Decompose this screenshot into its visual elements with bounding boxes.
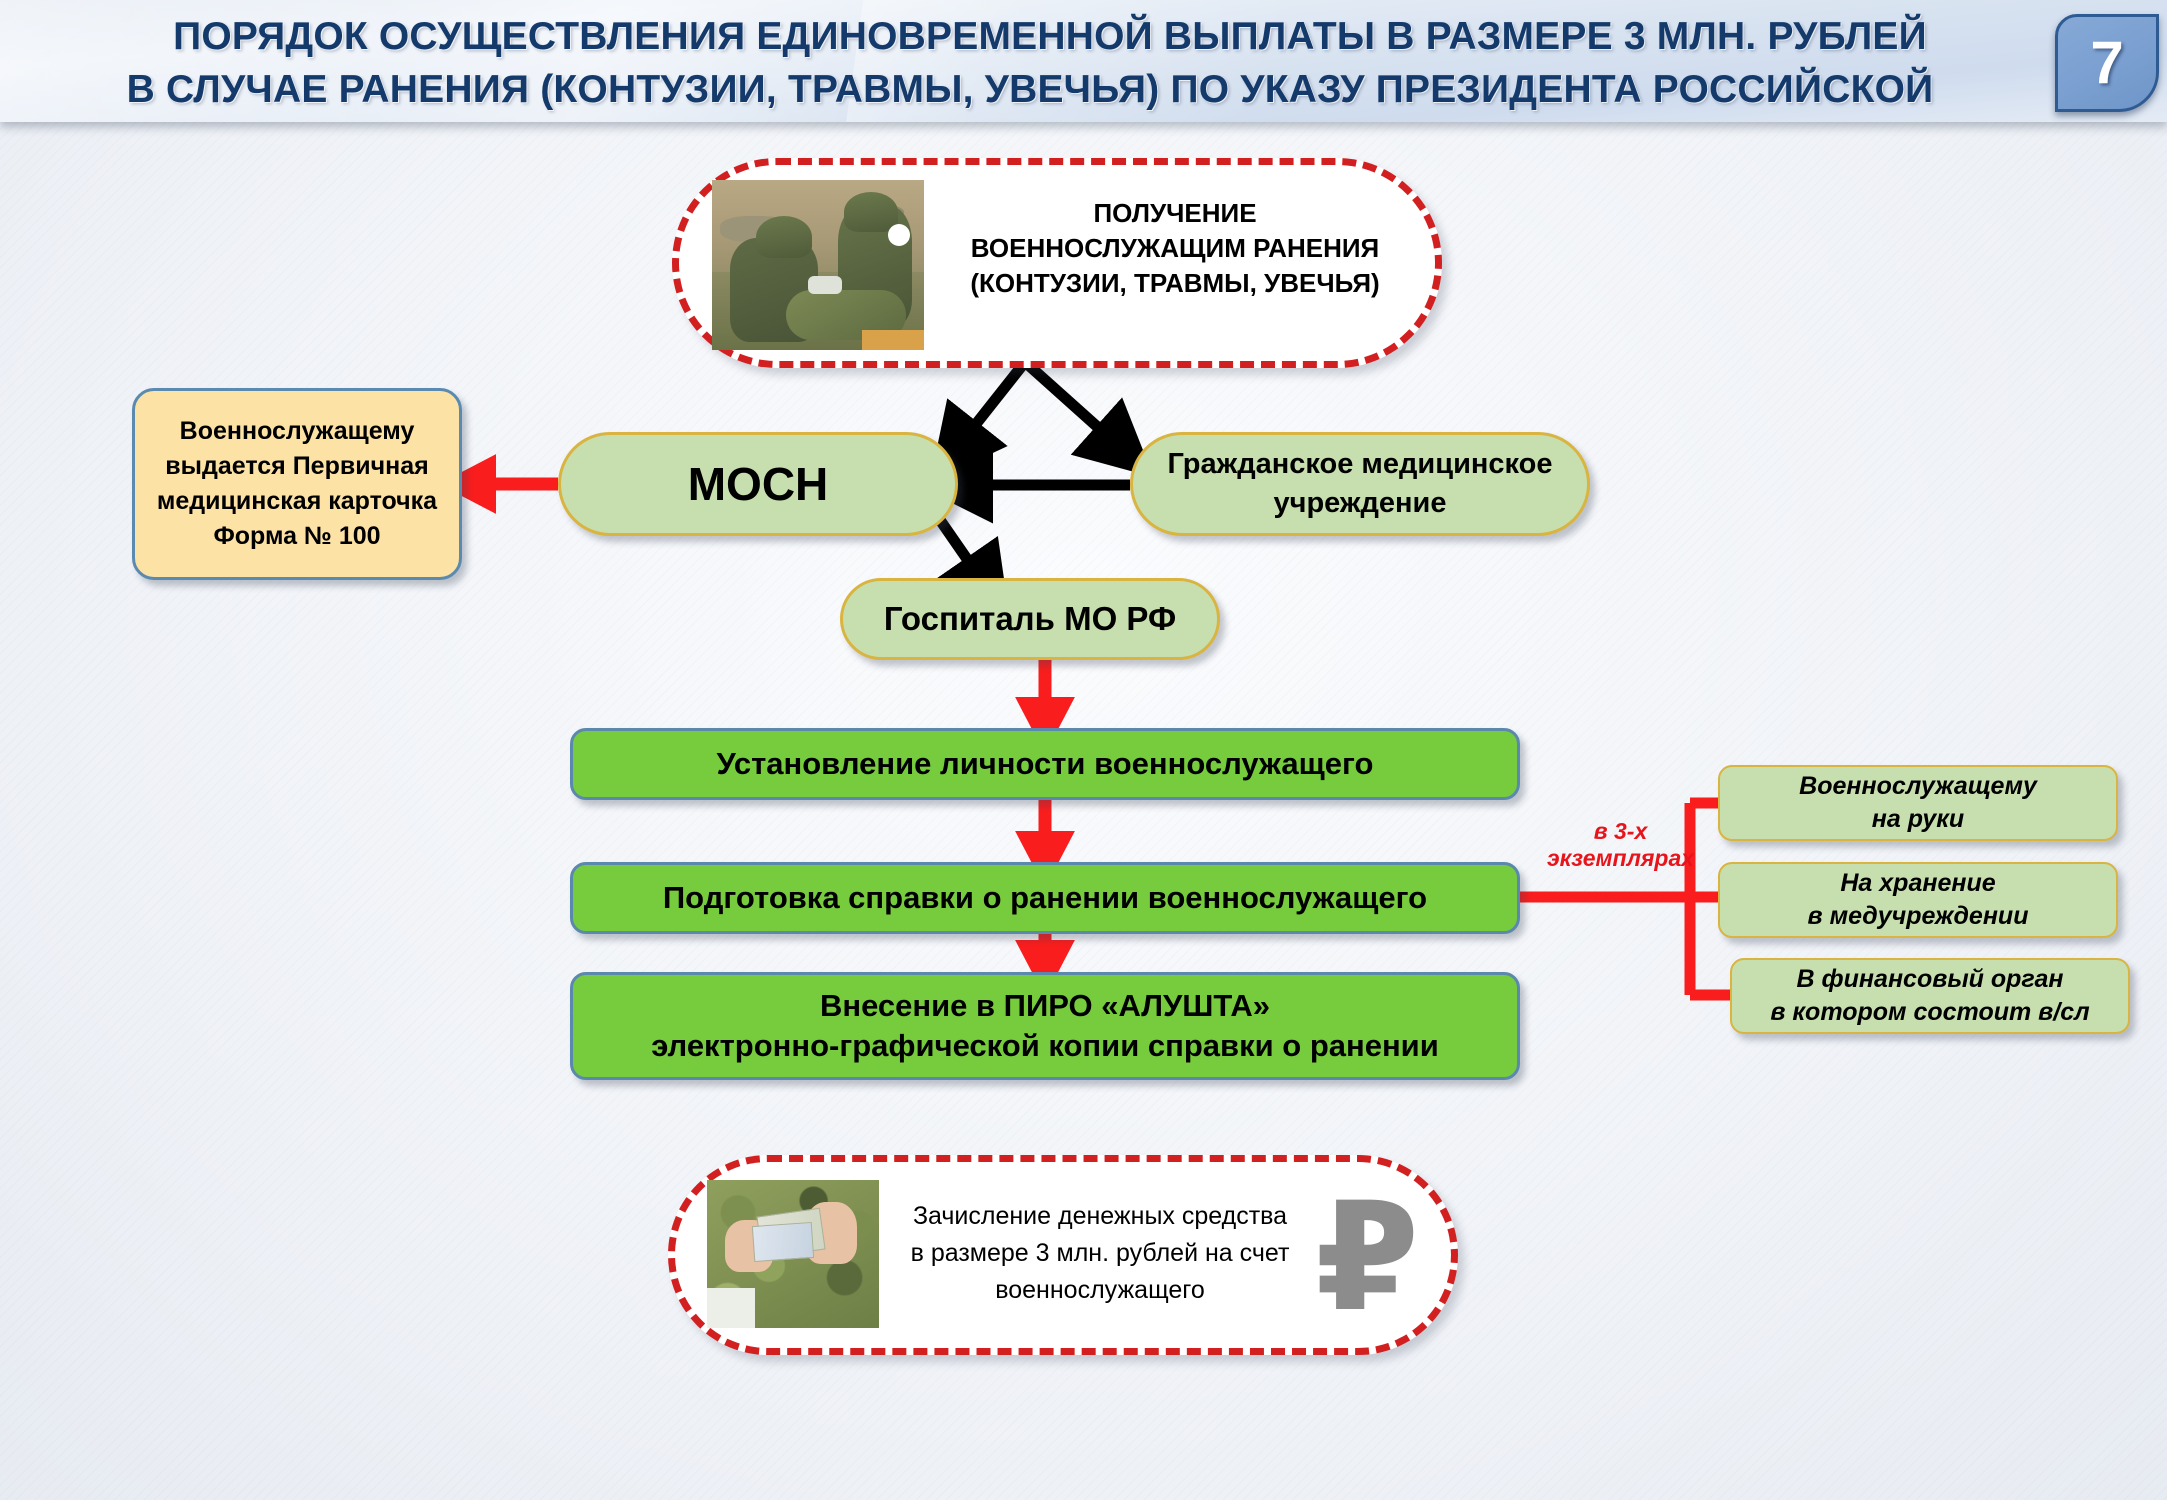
civil-med-line-1: Гражданское медицинское xyxy=(1133,445,1587,484)
copy-destination-serviceman-box: Военнослужащему на руки xyxy=(1718,765,2118,841)
primary-medical-card-box: Военнослужащему выдается Первичная медиц… xyxy=(132,388,462,580)
card-form-line-1: Военнослужащему xyxy=(135,414,459,449)
slide-header: ПОРЯДОК ОСУЩЕСТВЛЕНИЯ ЕДИНОВРЕМЕННОЙ ВЫП… xyxy=(0,0,2167,122)
page-title-line-2: В СЛУЧАЕ РАНЕНИЯ (КОНТУЗИИ, ТРАВМЫ, УВЕЧ… xyxy=(0,63,2060,122)
copy-dest-3-line-2: в котором состоит в/сл xyxy=(1732,996,2128,1029)
copy-dest-1-line-1: Военнослужащему xyxy=(1720,770,2116,803)
injury-label-line-2: ВОЕННОСЛУЖАЩИМ РАНЕНИЯ xyxy=(940,231,1410,266)
mosn-box: МОСН xyxy=(558,432,958,536)
copy-dest-1-line-2: на руки xyxy=(1720,803,2116,836)
identify-serviceman-box: Установление личности военнослужащего xyxy=(570,728,1520,800)
prepare-certificate-box: Подготовка справки о ранении военнослужа… xyxy=(570,862,1520,934)
payment-line-2: в размере 3 млн. рублей на счет xyxy=(890,1235,1310,1272)
three-copies-line-2: экземплярах xyxy=(1538,845,1703,872)
alushta-entry-box: Внесение в ПИРО «АЛУШТА» электронно-граф… xyxy=(570,972,1520,1080)
copy-dest-2-line-2: в медучреждении xyxy=(1720,900,2116,933)
copy-dest-2-line-1: На хранение xyxy=(1720,867,2116,900)
alushta-line-1: Внесение в ПИРО «АЛУШТА» xyxy=(573,986,1517,1026)
prepare-cert-label: Подготовка справки о ранении военнослужа… xyxy=(573,880,1517,916)
mosn-label: МОСН xyxy=(561,457,955,511)
card-form-line-2: выдается Первичная xyxy=(135,449,459,484)
page-number-value: 7 xyxy=(2090,33,2123,93)
three-copies-label: в 3-х экземплярах xyxy=(1538,818,1703,872)
page-number-badge: 7 xyxy=(2055,14,2159,112)
alushta-line-2: электронно-графической копии справки о р… xyxy=(573,1026,1517,1066)
three-copies-line-1: в 3-х xyxy=(1538,818,1703,845)
page-title-line-1: ПОРЯДОК ОСУЩЕСТВЛЕНИЯ ЕДИНОВРЕМЕННОЙ ВЫП… xyxy=(0,10,2060,63)
slide-canvas: ПОРЯДОК ОСУЩЕСТВЛЕНИЯ ЕДИНОВРЕМЕННОЙ ВЫП… xyxy=(0,0,2167,1500)
identify-label: Установление личности военнослужащего xyxy=(573,746,1517,782)
civil-medical-box: Гражданское медицинское учреждение xyxy=(1130,432,1590,536)
copy-destination-financial-box: В финансовый орган в котором состоит в/с… xyxy=(1730,958,2130,1034)
ruble-currency-icon: ₽ xyxy=(1315,1183,1419,1333)
hospital-label: Госпиталь МО РФ xyxy=(843,600,1217,638)
card-form-line-4: Форма № 100 xyxy=(135,519,459,554)
civil-med-line-2: учреждение xyxy=(1133,484,1587,523)
injury-label-line-1: ПОЛУЧЕНИЕ xyxy=(940,196,1410,231)
page-title: ПОРЯДОК ОСУЩЕСТВЛЕНИЯ ЕДИНОВРЕМЕННОЙ ВЫП… xyxy=(0,10,2060,122)
payment-line-1: Зачисление денежных средства xyxy=(890,1198,1310,1235)
payment-line-3: военнослужащего xyxy=(890,1272,1310,1309)
copy-dest-3-line-1: В финансовый орган xyxy=(1732,963,2128,996)
hospital-box: Госпиталь МО РФ xyxy=(840,578,1220,660)
card-form-line-3: медицинская карточка xyxy=(135,484,459,519)
payment-label: Зачисление денежных средства в размере 3… xyxy=(890,1198,1310,1309)
injury-label-line-3: (КОНТУЗИИ, ТРАВМЫ, УВЕЧЬЯ) xyxy=(940,266,1410,301)
copy-destination-storage-box: На хранение в медучреждении xyxy=(1718,862,2118,938)
payment-photo xyxy=(707,1180,879,1328)
injury-photo xyxy=(712,180,924,350)
injury-label: ПОЛУЧЕНИЕ ВОЕННОСЛУЖАЩИМ РАНЕНИЯ (КОНТУЗ… xyxy=(940,196,1410,301)
